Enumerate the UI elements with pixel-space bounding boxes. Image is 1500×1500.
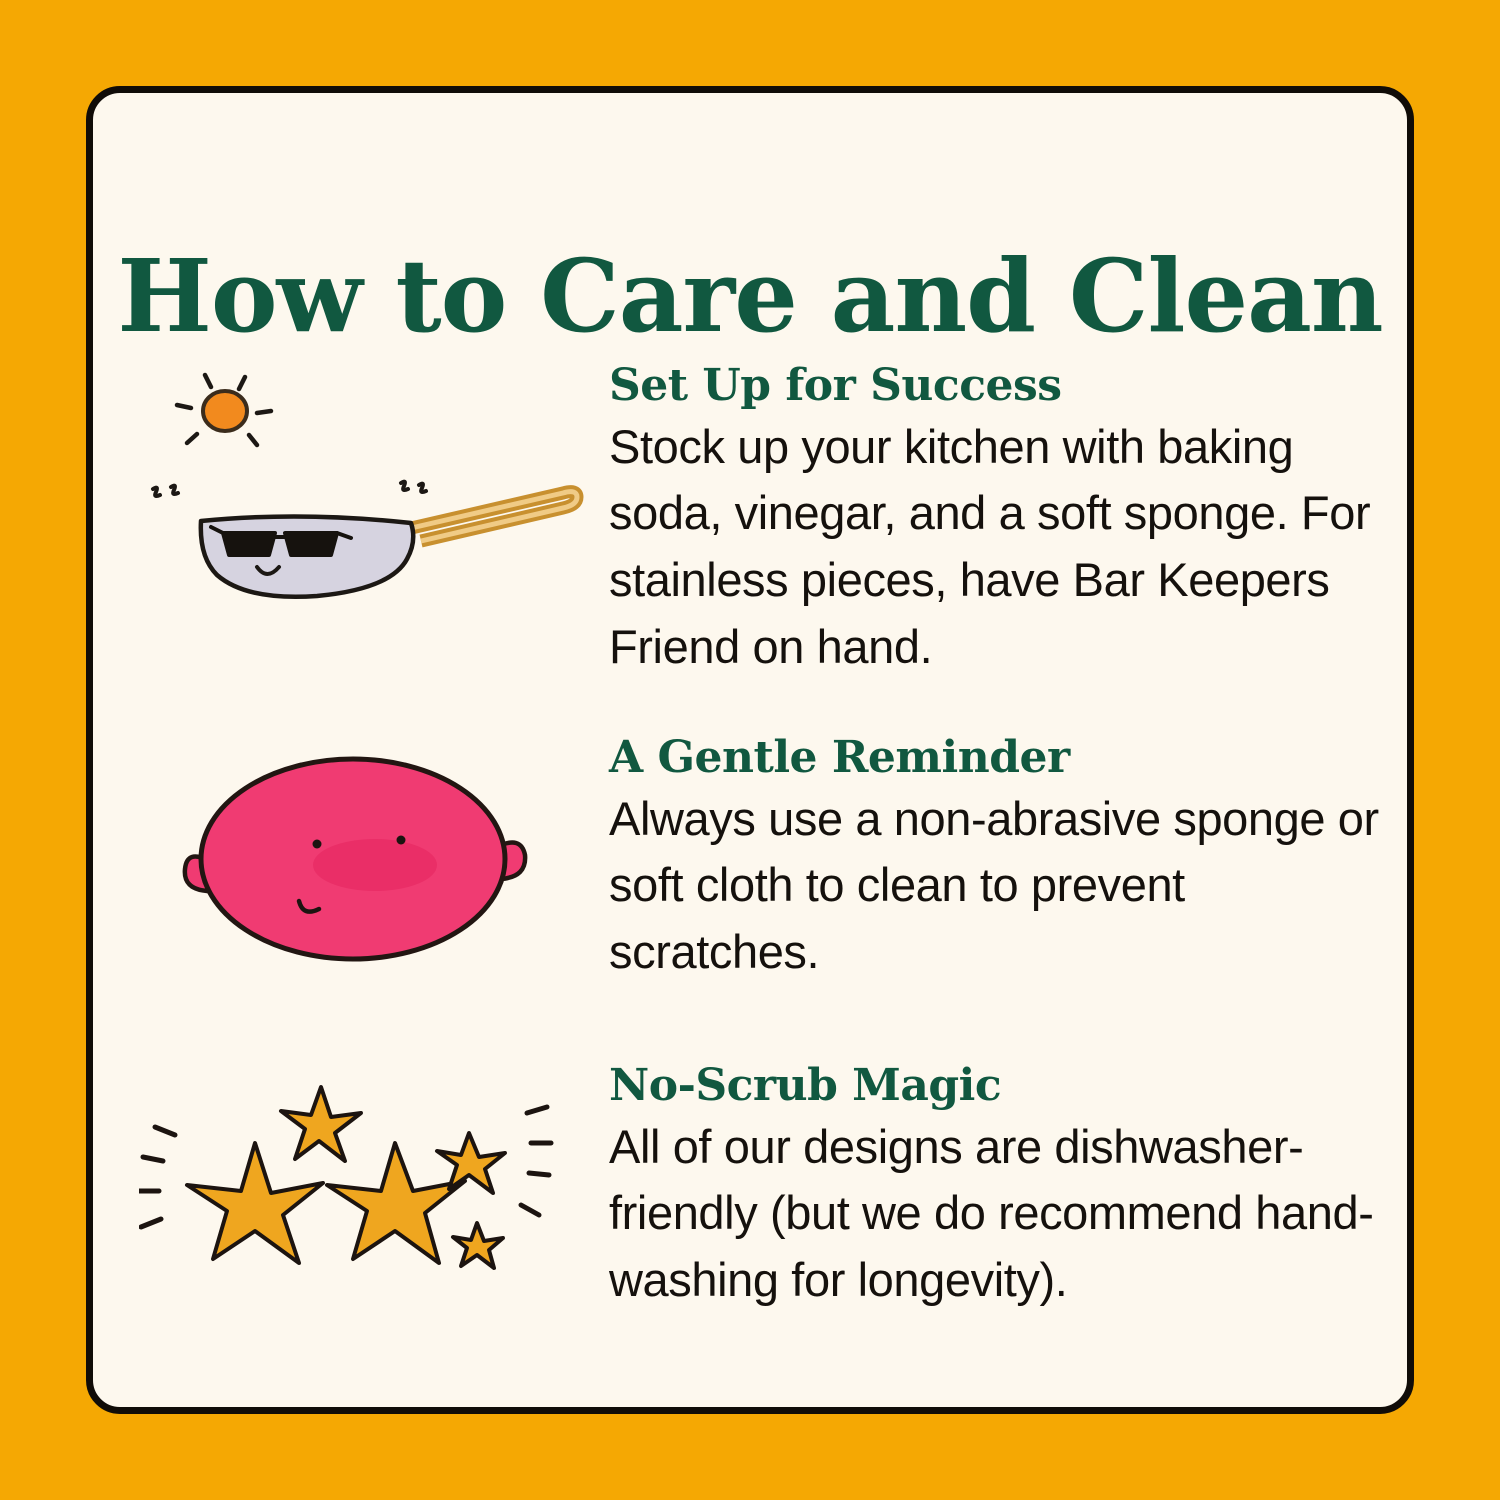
care-and-clean-card: How to Care and Clean xyxy=(86,86,1414,1414)
section-body: All of our designs are dishwasher-friend… xyxy=(609,1114,1379,1314)
section-body: Always use a non-abrasive sponge or soft… xyxy=(609,786,1379,986)
sun-icon xyxy=(203,391,247,431)
section-text-block: Set Up for Success Stock up your kitchen… xyxy=(609,361,1379,681)
heat-squiggle-right-icon xyxy=(401,482,426,492)
star-left-icon xyxy=(187,1143,323,1263)
frying-pan-with-sunglasses-and-sun-illustration xyxy=(139,361,609,611)
heat-squiggle-left-icon xyxy=(153,486,178,496)
star-top-icon xyxy=(281,1087,361,1161)
sparkling-stars-illustration xyxy=(139,1061,609,1311)
section-heading: Set Up for Success xyxy=(609,363,1379,410)
pan-sun-svg xyxy=(139,361,599,611)
stars-svg xyxy=(139,1061,599,1311)
section-body: Stock up your kitchen with baking soda, … xyxy=(609,414,1379,681)
section-text-block: A Gentle Reminder Always use a non-abras… xyxy=(609,733,1379,986)
sponge-right-eye-icon xyxy=(397,836,406,845)
sparkle-dashes-left-icon xyxy=(139,1127,175,1227)
star-tiny-icon xyxy=(453,1223,503,1268)
sponge-left-eye-icon xyxy=(313,840,322,849)
section-heading: A Gentle Reminder xyxy=(609,735,1379,782)
pan-handle-icon xyxy=(407,492,577,541)
section-a-gentle-reminder: A Gentle Reminder Always use a non-abras… xyxy=(139,733,1379,986)
section-no-scrub-magic: No-Scrub Magic All of our designs are di… xyxy=(139,1061,1379,1314)
sponge-svg xyxy=(139,733,599,983)
sponge-blush-icon xyxy=(313,839,437,891)
star-right-icon xyxy=(327,1143,465,1263)
section-heading: No-Scrub Magic xyxy=(609,1063,1379,1110)
section-text-block: No-Scrub Magic All of our designs are di… xyxy=(609,1061,1379,1314)
section-set-up-for-success: Set Up for Success Stock up your kitchen… xyxy=(139,361,1379,681)
sparkle-dashes-right-icon xyxy=(521,1107,551,1215)
page-title: How to Care and Clean xyxy=(93,246,1407,346)
pink-sponge-with-face-illustration xyxy=(139,733,609,983)
